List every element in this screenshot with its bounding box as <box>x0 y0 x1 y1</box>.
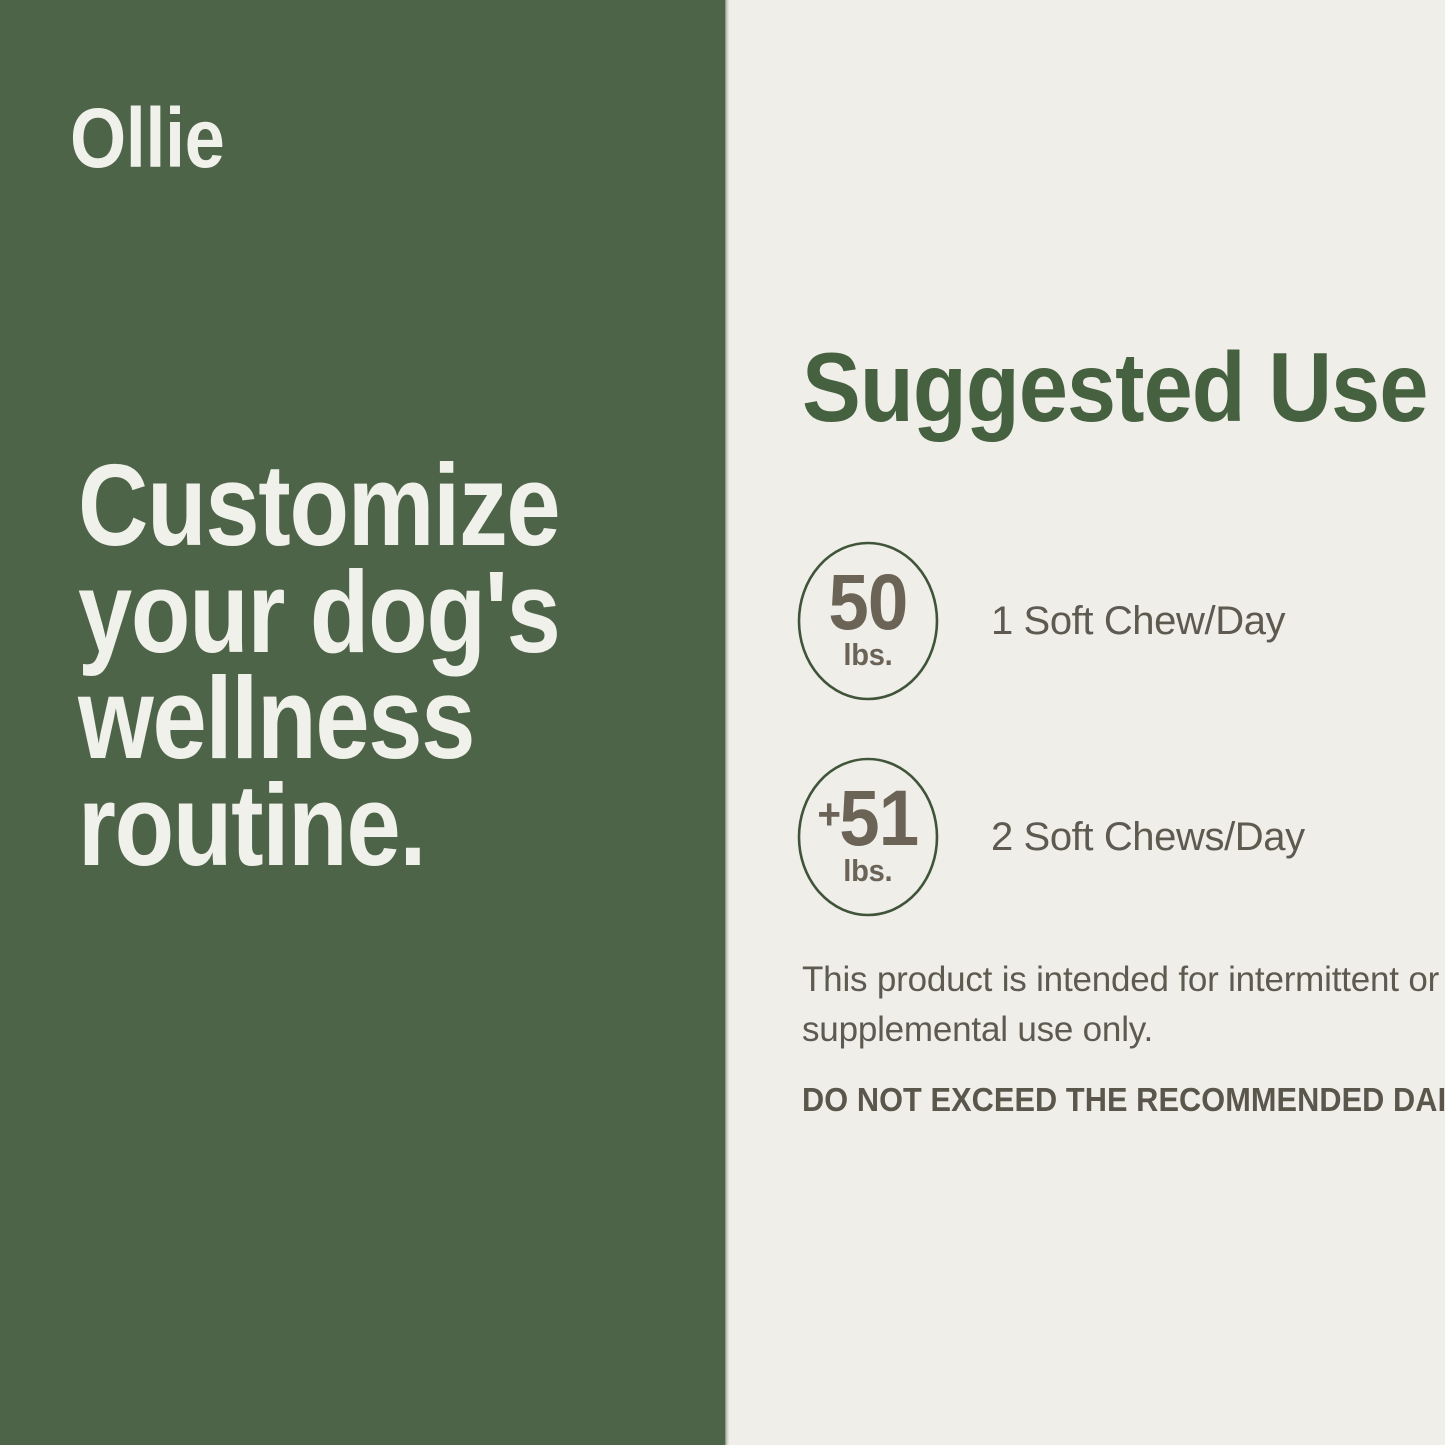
headline-line-3: wellness <box>78 665 599 772</box>
panel-divider <box>725 0 729 1445</box>
dosage-list: 50 lbs. 1 Soft Chew/Day +51 lbs. 2 Sof <box>797 540 1417 972</box>
weight-number-50: 50 <box>828 557 907 646</box>
dosage-row-50lbs: 50 lbs. 1 Soft Chew/Day <box>797 540 1417 702</box>
suggested-use-panel: Suggested Use 50 lbs. 1 Soft Chew/Day <box>725 0 1445 1445</box>
weight-value-50: 50 <box>828 568 907 636</box>
page-headline: Customize your dog's wellness routine. <box>78 452 599 879</box>
dosage-label-1-soft-chew: 1 Soft Chew/Day <box>991 599 1285 643</box>
ollie-brand-logo: Ollie <box>70 96 224 180</box>
weight-badge-50lbs: 50 lbs. <box>797 541 939 701</box>
weight-badge-51lbs-plus: +51 lbs. <box>797 757 939 917</box>
weight-number-51: 51 <box>839 773 918 862</box>
fineprint-usage-note: This product is intended for intermitten… <box>802 955 1442 1055</box>
section-title-suggested-use: Suggested Use <box>802 338 1427 436</box>
headline-line-1: Customize <box>78 452 599 559</box>
headline-line-2: your dog's <box>78 559 599 666</box>
fineprint-warning-text: DO NOT EXCEED THE RECOMMENDED DAILY AMOU… <box>802 1082 1397 1118</box>
weight-value-51: +51 <box>818 784 919 852</box>
plus-sign-icon: + <box>818 790 840 839</box>
dosage-label-2-soft-chews: 2 Soft Chews/Day <box>991 815 1305 859</box>
fineprint-block: This product is intended for intermitten… <box>802 955 1442 1118</box>
weight-unit-lbs-50: lbs. <box>828 639 909 670</box>
weight-unit-lbs-51: lbs. <box>816 855 919 886</box>
headline-line-4: routine. <box>78 772 599 879</box>
brand-panel: Ollie Customize your dog's wellness rout… <box>0 0 725 1445</box>
dosage-row-51lbs-plus: +51 lbs. 2 Soft Chews/Day <box>797 756 1417 918</box>
product-info-poster: Ollie Customize your dog's wellness rout… <box>0 0 1445 1445</box>
